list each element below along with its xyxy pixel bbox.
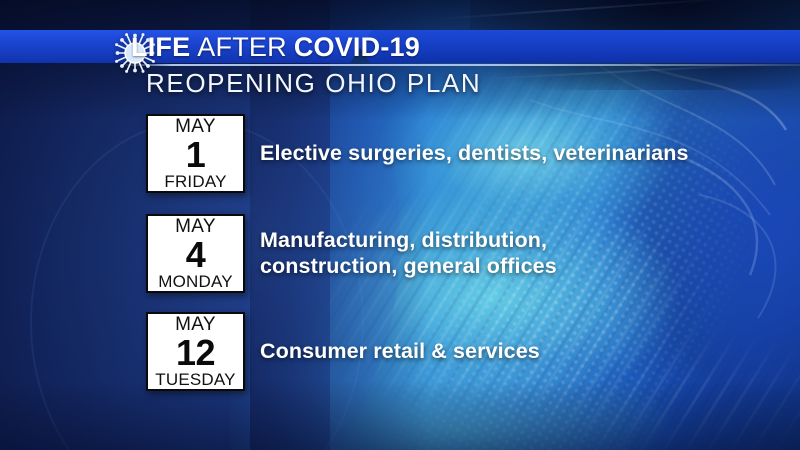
schedule-row-3: MAY 12 TUESDAY Consumer retail & service… — [146, 312, 540, 391]
schedule-description-3: Consumer retail & services — [260, 339, 540, 364]
schedule-description-1: Elective surgeries, dentists, veterinari… — [260, 141, 689, 166]
title-word-covid19: COVID-19 — [294, 32, 420, 63]
date-weekday-3: TUESDAY — [155, 371, 235, 388]
date-box-1: MAY 1 FRIDAY — [146, 114, 245, 193]
title-banner-underline — [118, 64, 800, 66]
date-box-3: MAY 12 TUESDAY — [146, 312, 245, 391]
schedule-description-2: Manufacturing, distribution, constructio… — [260, 228, 690, 279]
title-word-after: AFTER — [197, 32, 287, 63]
date-weekday-1: FRIDAY — [164, 173, 226, 190]
date-box-2: MAY 4 MONDAY — [146, 214, 245, 293]
date-day-2: 4 — [186, 237, 206, 272]
main-title: LIFE AFTER COVID-19 — [131, 31, 420, 63]
news-graphic: LIFE AFTER COVID-19 REOPENING OHIO PLAN … — [0, 0, 800, 450]
date-day-3: 12 — [176, 335, 215, 370]
date-day-1: 1 — [186, 137, 206, 172]
schedule-row-1: MAY 1 FRIDAY Elective surgeries, dentist… — [146, 114, 689, 193]
schedule-row-2: MAY 4 MONDAY Manufacturing, distribution… — [146, 214, 690, 293]
title-word-life: LIFE — [131, 32, 190, 63]
date-weekday-2: MONDAY — [158, 273, 233, 290]
subtitle: REOPENING OHIO PLAN — [146, 68, 481, 99]
date-month-1: MAY — [175, 117, 216, 136]
date-month-2: MAY — [175, 217, 216, 236]
date-month-3: MAY — [175, 315, 216, 334]
